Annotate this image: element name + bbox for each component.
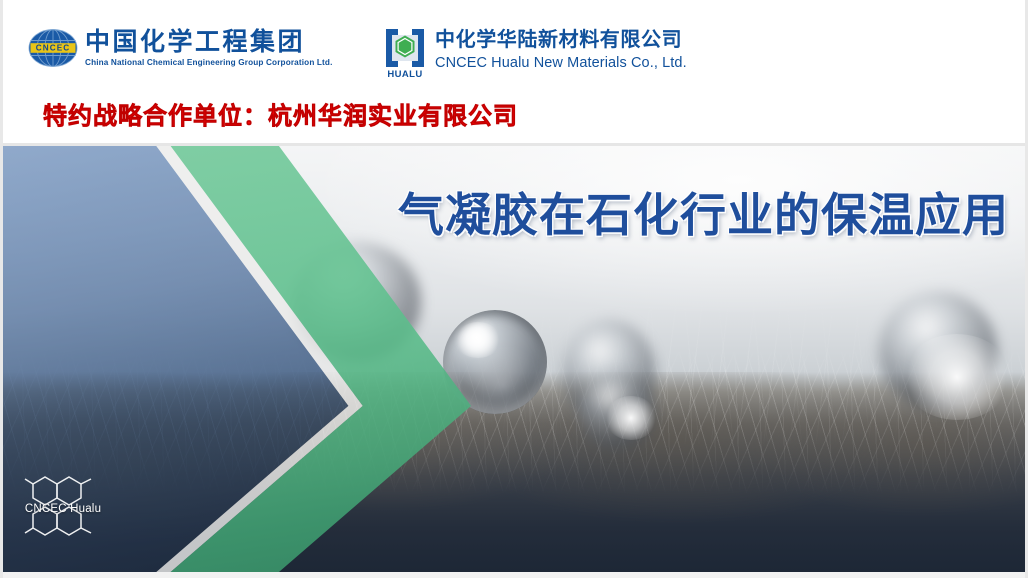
hualu-name-en: CNCEC Hualu New Materials Co., Ltd. [435, 55, 687, 72]
hualu-logo: HUALU 中化学华陆新材料有限公司 CNCEC Hualu New Mater… [383, 26, 687, 78]
hualu-hexagon-icon: HUALU [383, 26, 427, 78]
slide-bottom-strip [3, 572, 1025, 578]
globe-icon: CNCEC [27, 28, 79, 68]
cncec-logo-text: 中国化学工程集团 China National Chemical Enginee… [85, 29, 333, 68]
hualu-name-cn: 中化学华陆新材料有限公司 [435, 29, 687, 52]
cncec-name-cn: 中国化学工程集团 [85, 29, 333, 56]
hualu-logo-text: 中化学华陆新材料有限公司 CNCEC Hualu New Materials C… [435, 29, 687, 72]
water-droplet [599, 232, 687, 328]
slide-title: 气凝胶在石化行业的保温应用 [398, 179, 1009, 245]
partner-banner-text: 特约战略合作单位：杭州华润实业有限公司 [43, 96, 518, 131]
watermark-logo: CNCEC Hualu [15, 470, 111, 548]
droplet-highlight [605, 396, 657, 440]
cncec-logo: CNCEC 中国化学工程集团 China National Chemical E… [27, 28, 333, 68]
presentation-slide: CNCEC 中国化学工程集团 China National Chemical E… [0, 0, 1028, 578]
watermark-label: CNCEC Hualu [15, 503, 111, 515]
logo-row: CNCEC 中国化学工程集团 China National Chemical E… [3, 26, 1025, 82]
cncec-name-en: China National Chemical Engineering Grou… [85, 58, 333, 68]
hero-image: 气凝胶在石化行业的保温应用 CNCEC Hualu [3, 146, 1025, 572]
droplet-highlight [455, 322, 501, 358]
svg-text:CNCEC: CNCEC [36, 43, 71, 52]
hualu-mark-text: HUALU [383, 70, 427, 80]
slide-header: CNCEC 中国化学工程集团 China National Chemical E… [3, 0, 1025, 146]
